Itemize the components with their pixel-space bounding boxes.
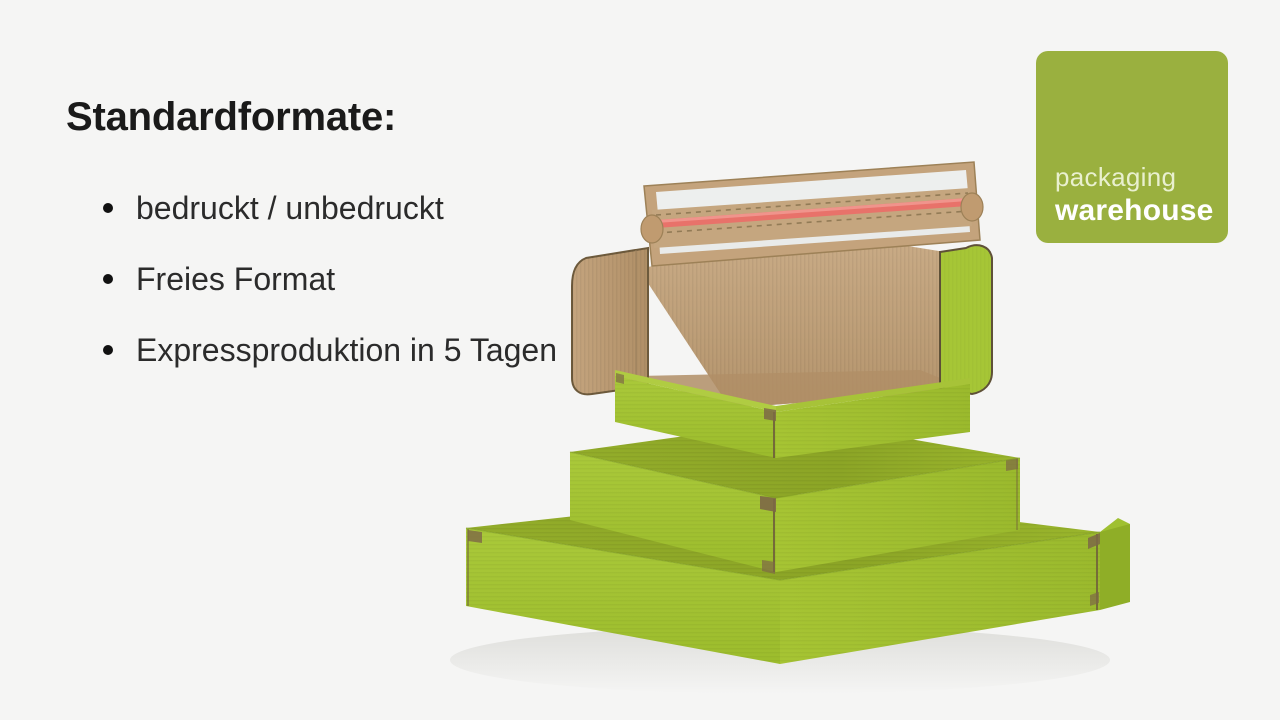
slide-canvas: Standardformate: bedruckt / unbedruckt F…: [0, 0, 1280, 720]
bullet-label: bedruckt / unbedruckt: [136, 192, 444, 224]
page-title: Standardformate:: [66, 93, 396, 141]
bullet-label: Freies Format: [136, 263, 335, 295]
bullet-dot-icon: [103, 274, 113, 284]
bullet-dot-icon: [103, 203, 113, 213]
bullet-dot-icon: [103, 345, 113, 355]
box-stack-illustration: [400, 140, 1160, 700]
